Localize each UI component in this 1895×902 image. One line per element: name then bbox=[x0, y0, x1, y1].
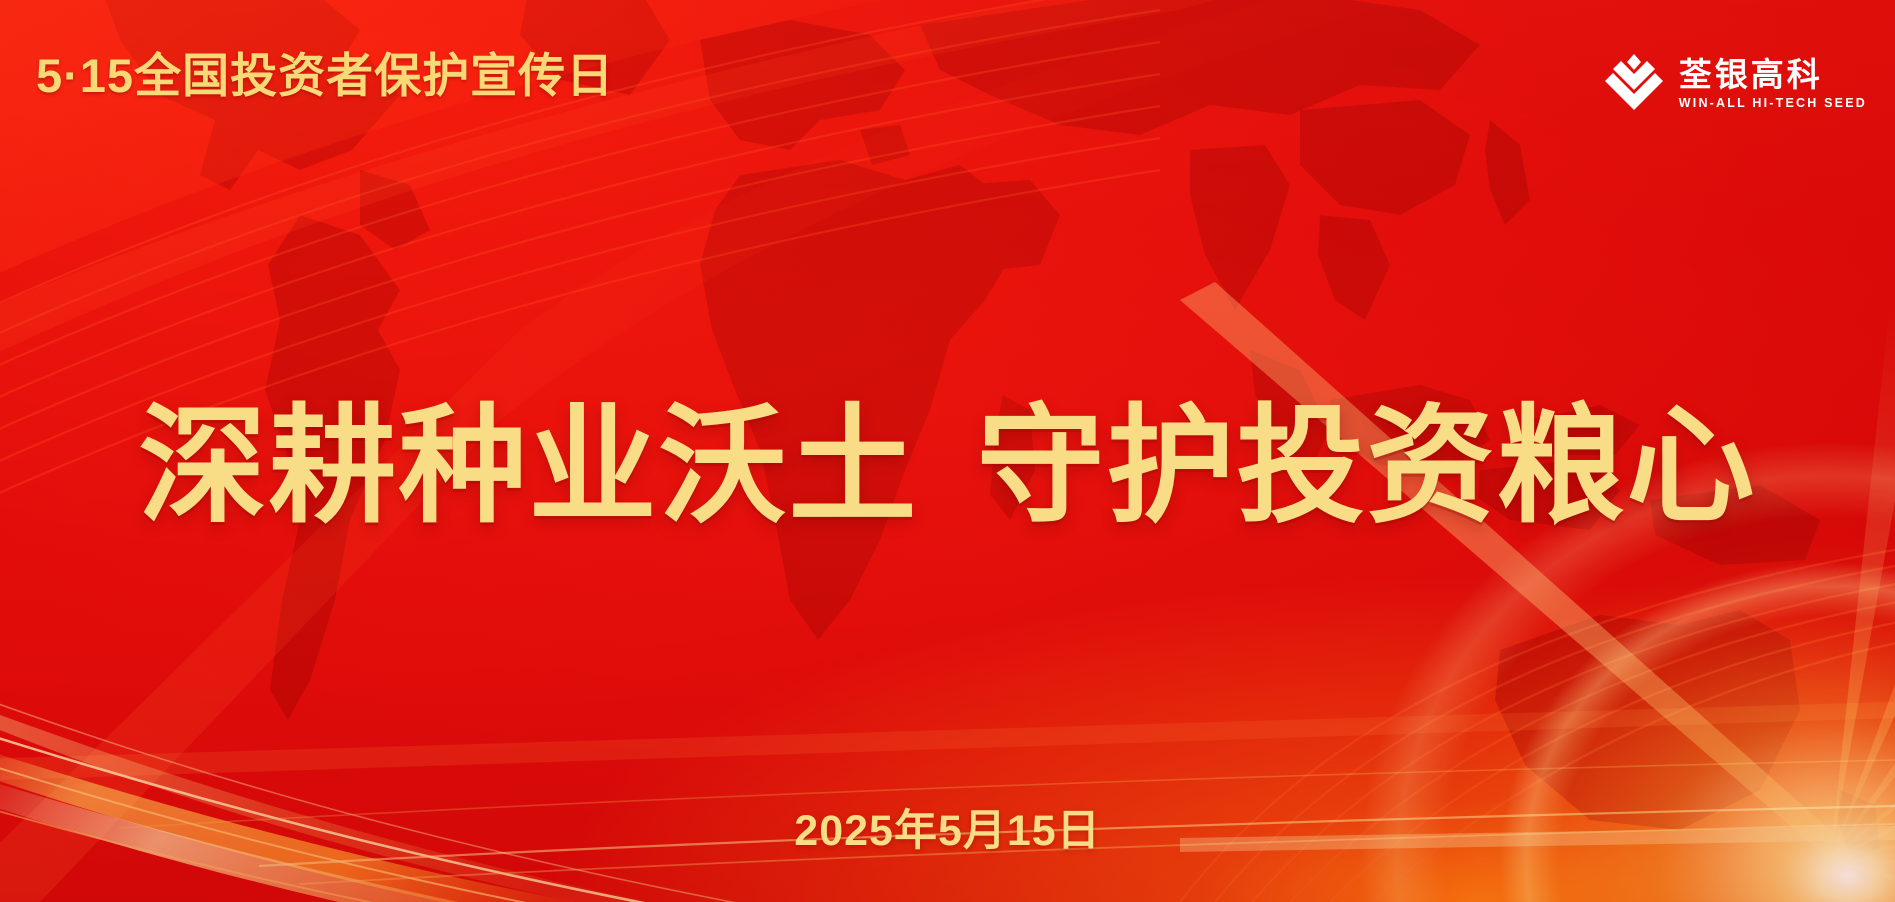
page-title: 深耕种业沃土守护投资粮心 bbox=[0, 398, 1895, 536]
company-logo: 荃银高科 WIN-ALL HI-TECH SEED bbox=[1603, 52, 1867, 118]
title-phrase-left: 深耕种业沃土 bbox=[138, 395, 918, 538]
logo-name-en: WIN-ALL HI-TECH SEED bbox=[1679, 95, 1867, 113]
logo-name-cn: 荃银高科 bbox=[1679, 58, 1867, 93]
logo-wordmark: 荃银高科 WIN-ALL HI-TECH SEED bbox=[1679, 58, 1867, 112]
sprout-chevron-icon bbox=[1603, 52, 1665, 118]
title-phrase-right: 守护投资粮心 bbox=[977, 395, 1757, 538]
event-date: 2025年5月15日 bbox=[0, 796, 1895, 858]
poster-canvas: 5·15全国投资者保护宣传日 荃银高科 WIN-ALL HI-TECH SEED… bbox=[0, 0, 1895, 902]
event-headline: 5·15全国投资者保护宣传日 bbox=[36, 52, 614, 99]
